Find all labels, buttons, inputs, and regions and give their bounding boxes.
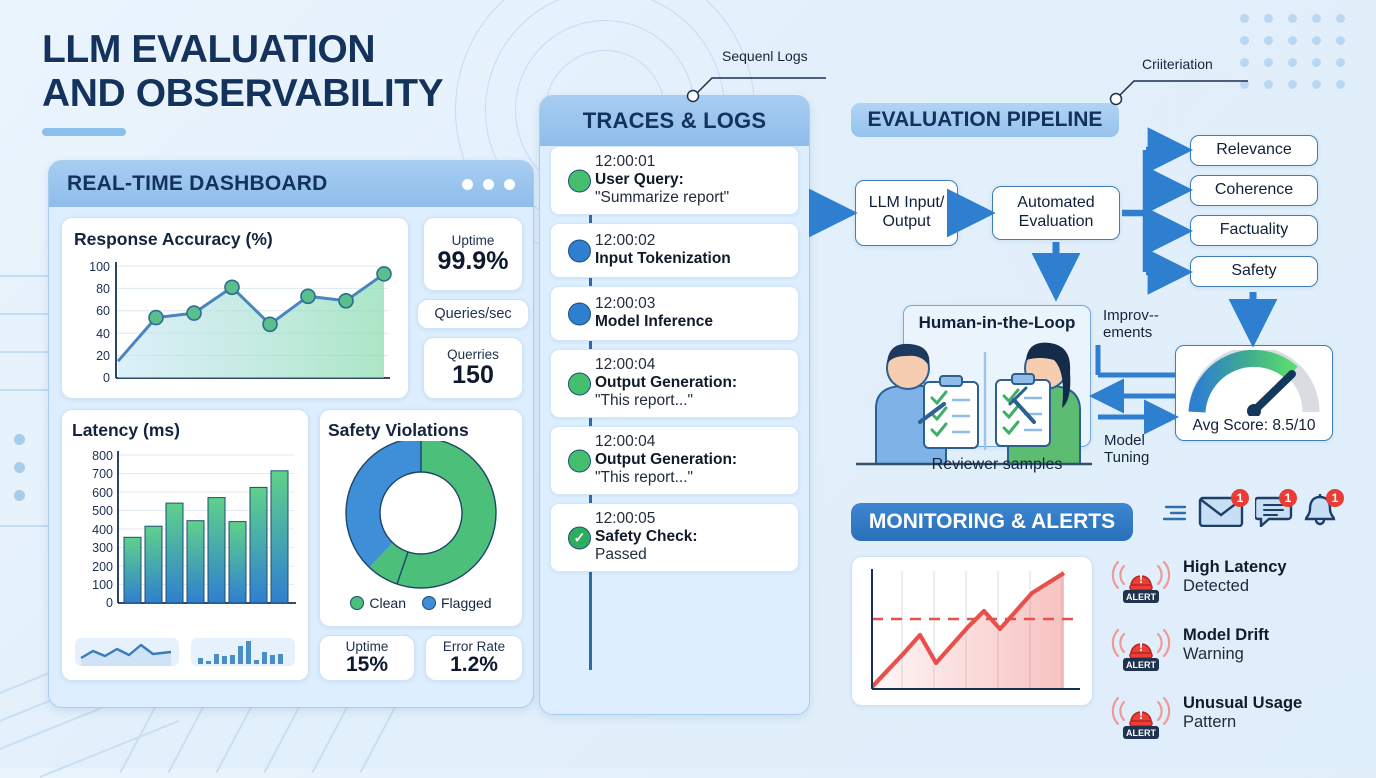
decorative-dot-grid	[1240, 14, 1360, 102]
accuracy-chart-title: Response Accuracy (%)	[74, 229, 396, 250]
stat-uptime: Uptime 99.9%	[423, 217, 523, 291]
decorative-dots-left	[14, 434, 25, 518]
stat-uptime-secondary: Uptime 15%	[319, 635, 415, 681]
alert-badge-text: ALERT	[1126, 728, 1156, 738]
title-line-1: LLM EVALUATION	[42, 28, 375, 71]
trace-status-dot	[568, 449, 591, 472]
alert-row[interactable]: ! ALERT Model Drift Warning	[1110, 618, 1372, 672]
gauge-label: Avg Score: 8.5/10	[1176, 417, 1332, 435]
stat-error-rate: Error Rate 1.2%	[425, 635, 523, 681]
title-line-2: AND OBSERVABILITY	[42, 72, 443, 115]
trace-name: Safety Check:	[595, 528, 789, 546]
evaluation-pipeline-header: EVALUATION PIPELINE	[851, 103, 1119, 137]
svg-text:200: 200	[92, 560, 113, 574]
alert-badge-text: ALERT	[1126, 660, 1156, 670]
monitoring-trend-chart	[852, 557, 1092, 705]
alert-status: Warning	[1183, 645, 1269, 664]
callout-criteria: Criiteriation	[1142, 56, 1213, 72]
mail-badge: 1	[1231, 489, 1249, 507]
traces-title: TRACES & LOGS	[583, 108, 767, 134]
reviewer-samples-caption: Reviewer samples	[897, 456, 1097, 474]
accuracy-line-chart: 1008060 40200	[74, 250, 396, 390]
siren-alert-icon: ! ALERT	[1110, 618, 1172, 672]
stat-uptime2-label: Uptime	[320, 639, 414, 654]
trace-time: 12:00:03	[595, 295, 789, 313]
llm-box-label: LLM Input/ Output	[856, 194, 957, 232]
gauge-icon	[1179, 350, 1329, 416]
svg-text:40: 40	[96, 327, 110, 341]
trace-item[interactable]: 12:00:04 Output Generation: "This report…	[550, 426, 799, 495]
traces-header: TRACES & LOGS	[540, 96, 809, 146]
safety-donut-chart	[328, 441, 514, 591]
message-icon-wrap[interactable]: 1	[1255, 493, 1293, 532]
svg-text:20: 20	[96, 349, 110, 363]
llm-input-output-box[interactable]: LLM Input/ Output	[855, 180, 958, 246]
svg-text:0: 0	[103, 371, 110, 385]
sparkline-row	[72, 638, 298, 666]
legend-clean: Clean	[350, 595, 406, 611]
alert-title: Unusual Usage	[1183, 694, 1302, 712]
alert-title: Model Drift	[1183, 626, 1269, 644]
message-badge: 1	[1279, 489, 1297, 507]
trace-name: Output Generation:	[595, 451, 789, 469]
trace-status-dot	[568, 239, 591, 262]
traces-and-logs-panel: TRACES & LOGS 12:00:01 User Query: "Summ…	[539, 95, 810, 715]
trace-detail: "This report..."	[595, 392, 789, 410]
criterion-relevance[interactable]: Relevance	[1190, 135, 1318, 166]
trace-detail: Passed	[595, 546, 789, 564]
trace-time: 12:00:05	[595, 510, 789, 528]
svg-text:300: 300	[92, 541, 113, 555]
latency-chart-title: Latency (ms)	[72, 420, 298, 441]
safety-chart-title: Safety Violations	[328, 420, 514, 441]
trace-status-dot	[568, 372, 591, 395]
lines-icon	[1163, 502, 1189, 524]
automated-evaluation-box[interactable]: Automated Evaluation	[992, 186, 1120, 240]
page-title: LLM EVALUATION AND OBSERVABILITY	[42, 28, 443, 136]
alert-list: ! ALERT High Latency Detected ! ALERT Mo…	[1110, 550, 1372, 754]
criterion-factuality[interactable]: Factuality	[1190, 215, 1318, 246]
trace-detail: "This report..."	[595, 469, 789, 487]
svg-text:80: 80	[96, 282, 110, 296]
trace-time: 12:00:04	[595, 356, 789, 374]
title-underline	[42, 128, 126, 136]
svg-text:100: 100	[92, 578, 113, 592]
monitoring-alerts-header: MONITORING & ALERTS	[851, 503, 1133, 541]
alert-status: Detected	[1183, 577, 1287, 596]
trace-item[interactable]: 12:00:01 User Query: "Summarize report"	[550, 146, 799, 215]
trace-detail: "Summarize report"	[595, 189, 789, 207]
siren-alert-icon: ! ALERT	[1110, 686, 1172, 740]
stat-error-value: 1.2%	[426, 654, 522, 676]
trace-name: Model Inference	[595, 313, 789, 331]
trace-time: 12:00:01	[595, 153, 789, 171]
trace-name: Input Tokenization	[595, 250, 789, 268]
alert-status: Pattern	[1183, 713, 1302, 732]
avg-score-gauge-card: Avg Score: 8.5/10	[1175, 345, 1333, 441]
stat-uptime-label: Uptime	[424, 233, 522, 248]
criterion-coherence[interactable]: Coherence	[1190, 175, 1318, 206]
criterion-safety[interactable]: Safety	[1190, 256, 1318, 287]
bell-badge: 1	[1326, 489, 1344, 507]
svg-text:60: 60	[96, 304, 110, 318]
stat-queries-value: 150	[424, 362, 522, 388]
latency-sparkline	[75, 638, 179, 666]
trace-time: 12:00:02	[595, 232, 789, 250]
alert-row[interactable]: ! ALERT High Latency Detected	[1110, 550, 1372, 604]
stat-queries-label: Querries	[424, 347, 522, 362]
alert-badge-text: ALERT	[1126, 592, 1156, 602]
svg-text:!: !	[1139, 571, 1143, 586]
svg-text:!: !	[1139, 707, 1143, 722]
trace-time: 12:00:04	[595, 433, 789, 451]
latency-card: Latency (ms) 800700600 500400300 200100	[61, 409, 309, 681]
svg-text:600: 600	[92, 486, 113, 500]
stat-uptime-value: 99.9%	[424, 248, 522, 274]
trace-status-dot	[568, 302, 591, 325]
safety-legend: Clean Flagged	[328, 595, 514, 611]
response-accuracy-card: Response Accuracy (%) 1008060 40200	[61, 217, 409, 399]
trace-item[interactable]: ✓ 12:00:05 Safety Check: Passed	[550, 503, 799, 572]
monitoring-trend-card	[851, 556, 1093, 706]
alert-title: High Latency	[1183, 558, 1287, 576]
automated-box-label: Automated Evaluation	[993, 194, 1119, 232]
siren-alert-icon: ! ALERT	[1110, 550, 1172, 604]
trace-name: Output Generation:	[595, 374, 789, 392]
trace-item[interactable]: 12:00:04 Output Generation: "This report…	[550, 349, 799, 418]
model-tuning-label: Model Tuning	[1104, 432, 1174, 467]
legend-flagged: Flagged	[422, 595, 492, 611]
stat-queries: Querries 150	[423, 337, 523, 399]
svg-text:500: 500	[92, 504, 113, 518]
svg-text:400: 400	[92, 523, 113, 537]
dashboard-title: REAL-TIME DASHBOARD	[67, 172, 327, 196]
trace-item[interactable]: 12:00:03 Model Inference	[550, 286, 799, 341]
notification-icons: 1 1 1	[1163, 492, 1338, 533]
trace-status-dot	[568, 169, 591, 192]
trace-name: User Query:	[595, 171, 789, 189]
svg-text:100: 100	[89, 260, 110, 274]
svg-text:0: 0	[106, 596, 113, 610]
callout-sequential-logs: Sequenl Logs	[722, 48, 808, 64]
trace-item[interactable]: 12:00:02 Input Tokenization	[550, 223, 799, 278]
stat-error-label: Error Rate	[426, 639, 522, 654]
latency-bar-chart: 800700600 500400300 2001000	[72, 441, 298, 627]
svg-text:800: 800	[92, 449, 113, 463]
svg-text:!: !	[1139, 639, 1143, 654]
stat-queries-per-sec: Queries/sec	[417, 299, 529, 329]
mail-icon-wrap[interactable]: 1	[1198, 493, 1246, 532]
improvements-label: Improv-- ements	[1103, 307, 1175, 342]
svg-text:700: 700	[92, 467, 113, 481]
alert-row[interactable]: ! ALERT Unusual Usage Pattern	[1110, 686, 1372, 740]
throughput-sparkbars	[191, 638, 295, 666]
stat-qps-label: Queries/sec	[418, 306, 528, 322]
bell-icon-wrap[interactable]: 1	[1302, 492, 1338, 533]
window-controls[interactable]	[462, 179, 515, 190]
check-icon: ✓	[568, 526, 591, 549]
stat-uptime2-value: 15%	[320, 654, 414, 676]
dashboard-header: REAL-TIME DASHBOARD	[49, 161, 533, 207]
reviewer-illustration	[848, 330, 1098, 470]
safety-violations-card: Safety Violations Clean Flagged	[319, 409, 523, 627]
real-time-dashboard-panel: REAL-TIME DASHBOARD Response Accuracy (%…	[48, 160, 534, 708]
